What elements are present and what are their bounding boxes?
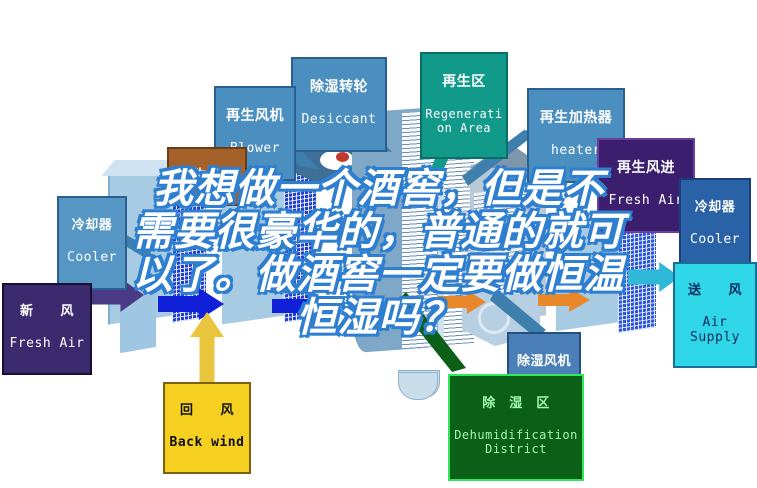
label-regeneration-area-en: Regenerati on Area (424, 108, 504, 135)
label-regeneration-air-outlet: 再生风出 (167, 147, 247, 206)
diagram-canvas: 除湿转轮 Desiccant 再生风机 Blower 再生区 Regenerat… (0, 0, 757, 488)
label-dehumidification-blower-cn: 除湿风机 (511, 355, 577, 370)
label-back-wind: 回 风 Back wind (163, 382, 251, 474)
label-desiccant-rotor-cn: 除湿转轮 (295, 80, 383, 96)
label-cooler-left: 冷却器 Cooler (57, 196, 127, 290)
label-regeneration-air-outlet-cn: 再生风出 (171, 169, 243, 184)
label-desiccant-rotor-en: Desiccant (295, 113, 383, 128)
label-regeneration-area-cn: 再生区 (424, 75, 504, 91)
label-dehumidification-district-cn: 除 湿 区 (453, 397, 579, 412)
label-regeneration-area: 再生区 Regenerati on Area (420, 52, 508, 159)
dehumidification-blower-inlet (478, 302, 510, 334)
back-wind-arrow (190, 312, 224, 386)
label-regeneration-blower-cn: 再生风机 (218, 109, 292, 125)
label-cooler-right-cn: 冷却器 (683, 201, 747, 216)
label-dehumidification-district: 除 湿 区 Dehumidification District (448, 374, 584, 481)
label-back-wind-en: Back wind (167, 436, 247, 451)
label-air-supply: 送 风 Air Supply (673, 262, 757, 368)
label-regeneration-air-inlet-cn: 再生风进 (601, 161, 691, 177)
label-air-supply-cn: 送 风 (677, 284, 753, 299)
label-regeneration-air-inlet-en: Fresh Air (601, 194, 691, 209)
label-air-supply-en: Air Supply (677, 316, 753, 345)
label-fresh-air-cn: 新 风 (6, 305, 88, 320)
label-fresh-air: 新 风 Fresh Air (2, 283, 92, 375)
label-cooler-left-en: Cooler (61, 251, 123, 266)
label-back-wind-cn: 回 风 (167, 404, 247, 419)
label-fresh-air-en: Fresh Air (6, 337, 88, 352)
label-desiccant-rotor: 除湿转轮 Desiccant (291, 57, 387, 152)
label-cooler-left-cn: 冷却器 (61, 219, 123, 234)
regeneration-blower-inlet-core (336, 152, 349, 162)
label-dehumidification-district-en: Dehumidification District (453, 429, 579, 456)
label-regeneration-heater-cn: 再生加热器 (531, 111, 621, 127)
label-cooler-right: 冷却器 Cooler (679, 178, 751, 272)
label-cooler-right-en: Cooler (683, 233, 747, 248)
